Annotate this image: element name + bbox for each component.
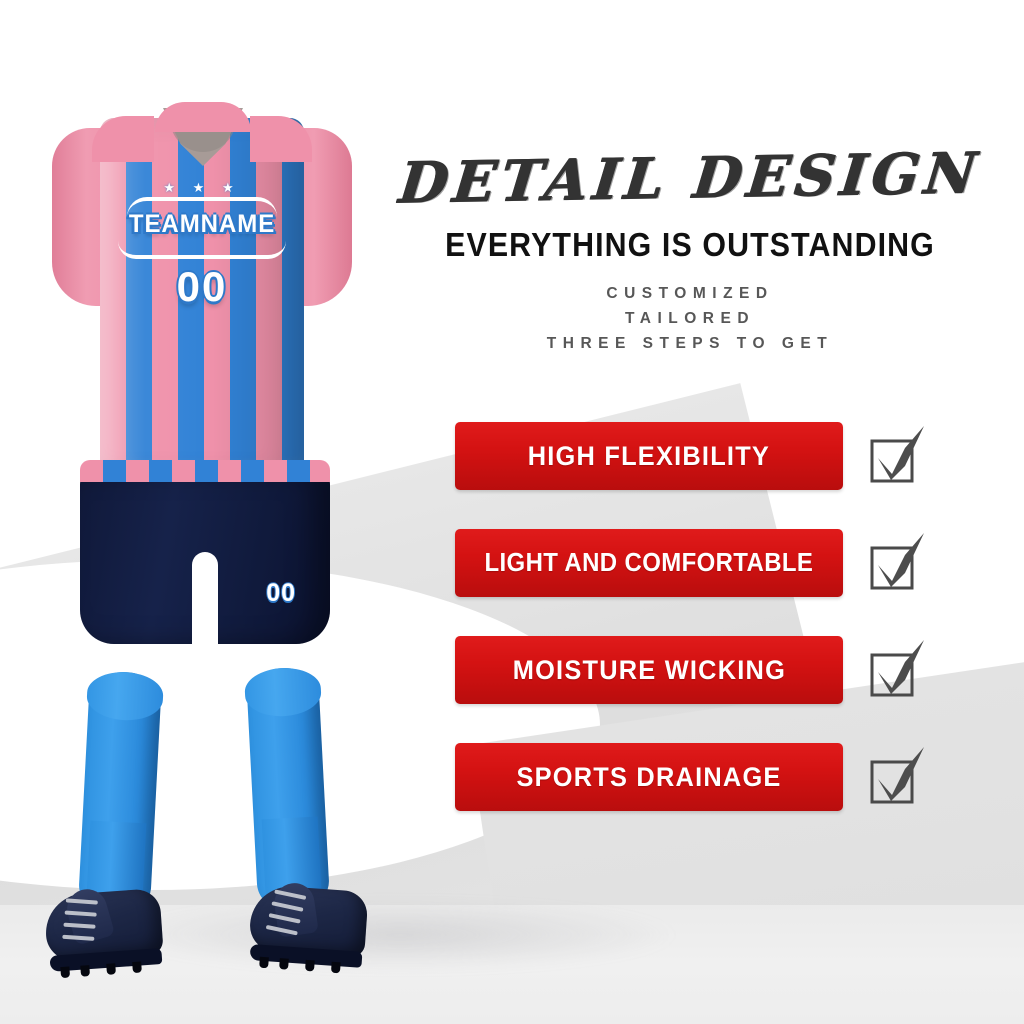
jersey-number: 00 [100,263,304,311]
feature-label: LIGHT AND COMFORTABLE [485,549,814,578]
checkbox-checked-icon [864,537,915,589]
sock-right [246,666,330,909]
page-subtitle: EVERYTHING IS OUTSTANDING [405,226,975,264]
page-title: DETAIL DESIGN [376,145,1003,212]
feature-row: SPORTS DRAINAGE [455,743,915,811]
cleat-stud [305,960,315,972]
cleat-stud [259,957,269,969]
tagline-line-1: CUSTOMIZED [380,281,1000,306]
tagline-block: CUSTOMIZED TAILORED THREE STEPS TO GET [380,281,1000,356]
shorts-graphic: 00 [80,472,330,644]
cleat-stud [331,962,341,974]
feature-label: SPORTS DRAINAGE [516,762,781,793]
feature-bar-light-and-comfortable[interactable]: LIGHT AND COMFORTABLE [455,529,843,597]
cleat-stud [60,967,70,979]
cleat-stud [132,961,142,973]
tagline-line-2: TAILORED [380,306,1000,331]
feature-label: MOISTURE WICKING [512,655,785,686]
product-banner: ★ ★ ★ TEAMNAME 00 00 [0,0,1024,1024]
feature-row: MOISTURE WICKING [455,636,915,704]
feature-row: HIGH FLEXIBILITY [455,422,915,490]
checkbox-checked-icon [864,430,915,482]
headline-block: DETAIL DESIGN EVERYTHING IS OUTSTANDING … [380,150,1000,356]
jersey-collar-band [155,102,251,132]
cleat-stud [106,963,116,975]
cleat-stud [80,965,90,977]
feature-bar-high-flexibility[interactable]: HIGH FLEXIBILITY [455,422,843,490]
checkbox-checked-icon [864,751,915,803]
soccer-uniform-illustration: ★ ★ ★ TEAMNAME 00 00 [0,0,400,1024]
feature-row: LIGHT AND COMFORTABLE [455,529,915,597]
feature-bar-moisture-wicking[interactable]: MOISTURE WICKING [455,636,843,704]
jersey-graphic: ★ ★ ★ TEAMNAME 00 [52,100,352,475]
jersey-arc-bottom [118,241,286,259]
shorts-waistband-stripes [80,460,330,482]
sock-left [78,670,162,913]
feature-label: HIGH FLEXIBILITY [528,441,770,472]
jersey-stars: ★ ★ ★ [100,180,304,196]
shorts-leg-gap [192,552,218,644]
tagline-line-3: THREE STEPS TO GET [380,331,1000,356]
checkbox-checked-icon [864,644,915,696]
shorts-number: 00 [266,579,296,608]
feature-list: HIGH FLEXIBILITY LIGHT AND COMFORTABLE [455,422,915,850]
cleat-right [247,880,369,976]
cleat-stud [279,958,289,970]
cleat-left [43,884,165,980]
jersey-chest-artwork: ★ ★ ★ TEAMNAME 00 [100,180,304,311]
feature-bar-sports-drainage[interactable]: SPORTS DRAINAGE [455,743,843,811]
jersey-team-name: TEAMNAME [104,210,300,239]
